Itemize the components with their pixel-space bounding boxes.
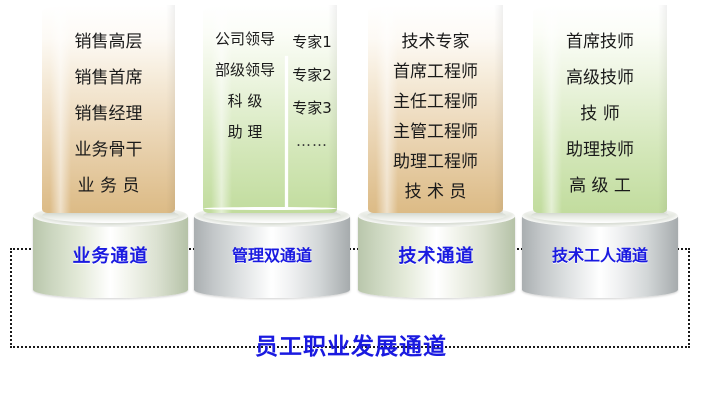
list-item: 助理技师 bbox=[566, 142, 634, 159]
list-item: 销售高层 bbox=[75, 34, 143, 51]
list-item: 首席技师 bbox=[566, 34, 634, 51]
column-2-divider bbox=[285, 56, 288, 209]
list-item: 销售首席 bbox=[75, 70, 143, 87]
list-item: 专家1 bbox=[292, 35, 332, 50]
list-item: 业务骨干 bbox=[75, 142, 143, 159]
column-2-panel-1-items: 公司领导 部级领导 科 级 助 理 bbox=[203, 32, 287, 140]
base-label-2: 管理双通道 bbox=[194, 242, 350, 266]
column-2-panel-2-items: 专家1 专家2 专家3 …… bbox=[287, 35, 337, 149]
column-3-items: 技术专家 首席工程师 主任工程师 主管工程师 助理工程师 技 术 员 bbox=[368, 34, 503, 201]
list-item: 技 术 员 bbox=[405, 184, 467, 201]
column-4-base: 技术工人通道 bbox=[522, 206, 678, 298]
list-item: 专家3 bbox=[292, 101, 332, 116]
list-item: 高级技师 bbox=[566, 70, 634, 87]
list-item: 销售经理 bbox=[75, 106, 143, 123]
list-item: 业 务 员 bbox=[78, 178, 140, 195]
column-1-items: 销售高层 销售首席 销售经理 业务骨干 业 务 员 bbox=[42, 34, 175, 195]
list-item: 主管工程师 bbox=[393, 124, 478, 141]
column-4-items: 首席技师 高级技师 技 师 助理技师 高 级 工 bbox=[533, 34, 667, 195]
list-item: 技 师 bbox=[580, 106, 619, 123]
list-item: 公司领导 bbox=[215, 32, 275, 47]
column-2-base: 管理双通道 bbox=[194, 206, 350, 298]
base-label-4: 技术工人通道 bbox=[522, 242, 678, 266]
list-item: 专家2 bbox=[292, 68, 332, 83]
diagram-title: 员工职业发展通道 bbox=[0, 327, 702, 361]
list-item: 部级领导 bbox=[215, 63, 275, 78]
list-item: 科 级 bbox=[228, 94, 263, 109]
column-3-base: 技术通道 bbox=[358, 206, 515, 298]
list-item: 首席工程师 bbox=[393, 64, 478, 81]
list-item: …… bbox=[296, 134, 328, 149]
base-label-1: 业务通道 bbox=[33, 242, 188, 268]
base-label-3: 技术通道 bbox=[358, 242, 515, 268]
column-2-divider-foot bbox=[203, 207, 337, 210]
list-item: 助理工程师 bbox=[393, 154, 478, 171]
list-item: 主任工程师 bbox=[393, 94, 478, 111]
list-item: 技术专家 bbox=[402, 34, 470, 51]
diagram-canvas: 销售高层 销售首席 销售经理 业务骨干 业 务 员 业务通道 公司领导 部级领导… bbox=[0, 0, 702, 411]
column-1-base: 业务通道 bbox=[33, 206, 188, 298]
list-item: 高 级 工 bbox=[569, 178, 631, 195]
list-item: 助 理 bbox=[228, 125, 263, 140]
